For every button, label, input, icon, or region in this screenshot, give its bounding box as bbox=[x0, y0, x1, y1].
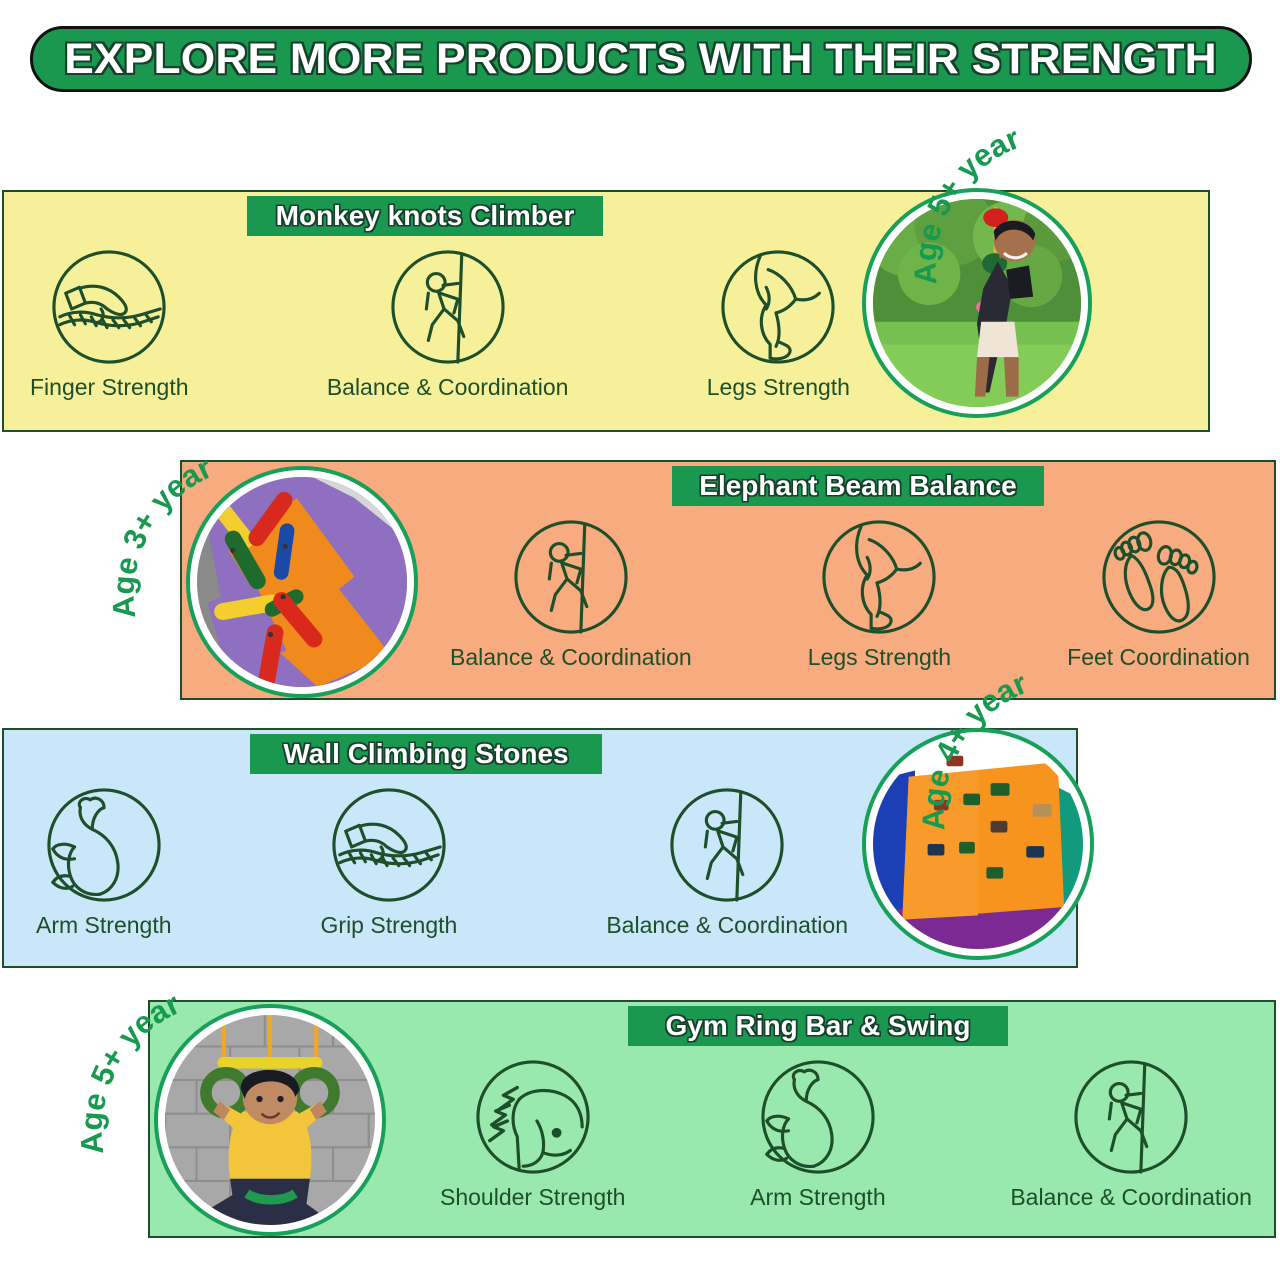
product-title-plate-3: Gym Ring Bar & Swing bbox=[628, 1006, 1008, 1046]
skill-item-legs-strength: Legs Strength bbox=[808, 518, 951, 671]
product-title-2: Wall Climbing Stones bbox=[283, 738, 568, 770]
skill-label: Grip Strength bbox=[321, 912, 458, 939]
person-climbing-rope-icon bbox=[1072, 1058, 1190, 1176]
flexed-bicep-icon bbox=[759, 1058, 877, 1176]
skill-item-finger-strength: Finger Strength bbox=[30, 248, 189, 401]
person-climbing-rope-icon bbox=[668, 786, 786, 904]
leg-icon bbox=[719, 248, 837, 366]
product-title-0: Monkey knots Climber bbox=[276, 200, 575, 232]
skill-row-3: Shoulder Strength Arm Strength bbox=[440, 1058, 1252, 1280]
hand-grip-rope-icon bbox=[330, 786, 448, 904]
flexed-bicep-icon bbox=[45, 786, 163, 904]
skill-label: Balance & Coordination bbox=[1010, 1184, 1252, 1211]
skill-item-legs-strength: Legs Strength bbox=[707, 248, 850, 401]
product-title-plate-0: Monkey knots Climber bbox=[247, 196, 603, 236]
shoulder-lightning-icon bbox=[474, 1058, 592, 1176]
skill-item-balance-coordination: Balance & Coordination bbox=[1010, 1058, 1252, 1211]
photo-inner bbox=[873, 739, 1083, 949]
skill-item-shoulder-strength: Shoulder Strength bbox=[440, 1058, 625, 1211]
infographic-root: EXPLORE MORE PRODUCTS WITH THEIR STRENGT… bbox=[0, 0, 1280, 1280]
product-title-plate-1: Elephant Beam Balance bbox=[672, 466, 1044, 506]
skill-label: Legs Strength bbox=[808, 644, 951, 671]
product-title-plate-2: Wall Climbing Stones bbox=[250, 734, 602, 774]
person-climbing-rope-icon bbox=[512, 518, 630, 636]
skill-item-grip-strength: Grip Strength bbox=[321, 786, 458, 939]
skill-label: Arm Strength bbox=[36, 912, 172, 939]
skill-item-feet-coordination: Feet Coordination bbox=[1067, 518, 1250, 671]
hand-grip-rope-icon bbox=[50, 248, 168, 366]
skill-label: Shoulder Strength bbox=[440, 1184, 625, 1211]
skill-item-balance-coordination: Balance & Coordination bbox=[450, 518, 692, 671]
photo-inner bbox=[165, 1015, 375, 1225]
page-title: EXPLORE MORE PRODUCTS WITH THEIR STRENGT… bbox=[65, 35, 1218, 84]
skill-label: Balance & Coordination bbox=[327, 374, 569, 401]
product-title-1: Elephant Beam Balance bbox=[699, 470, 1016, 502]
skill-label: Finger Strength bbox=[30, 374, 189, 401]
person-climbing-rope-icon bbox=[389, 248, 507, 366]
skill-item-arm-strength: Arm Strength bbox=[36, 786, 172, 939]
elephant-beam-balance-photo bbox=[186, 466, 418, 698]
skill-label: Feet Coordination bbox=[1067, 644, 1250, 671]
monkey-knots-climber-photo bbox=[862, 188, 1092, 418]
product-title-3: Gym Ring Bar & Swing bbox=[666, 1010, 971, 1042]
skill-item-balance-coordination: Balance & Coordination bbox=[606, 786, 848, 939]
skill-label: Balance & Coordination bbox=[450, 644, 692, 671]
photo-inner bbox=[873, 199, 1081, 407]
leg-icon bbox=[820, 518, 938, 636]
skill-item-arm-strength: Arm Strength bbox=[750, 1058, 886, 1211]
photo-inner bbox=[197, 477, 407, 687]
skill-label: Legs Strength bbox=[707, 374, 850, 401]
wall-climbing-stones-photo bbox=[862, 728, 1094, 960]
skill-item-balance-coordination: Balance & Coordination bbox=[327, 248, 569, 401]
footprints-icon bbox=[1100, 518, 1218, 636]
skill-label: Arm Strength bbox=[750, 1184, 886, 1211]
gym-ring-bar-swing-photo bbox=[154, 1004, 386, 1236]
header-banner: EXPLORE MORE PRODUCTS WITH THEIR STRENGT… bbox=[30, 26, 1252, 92]
skill-label: Balance & Coordination bbox=[606, 912, 848, 939]
